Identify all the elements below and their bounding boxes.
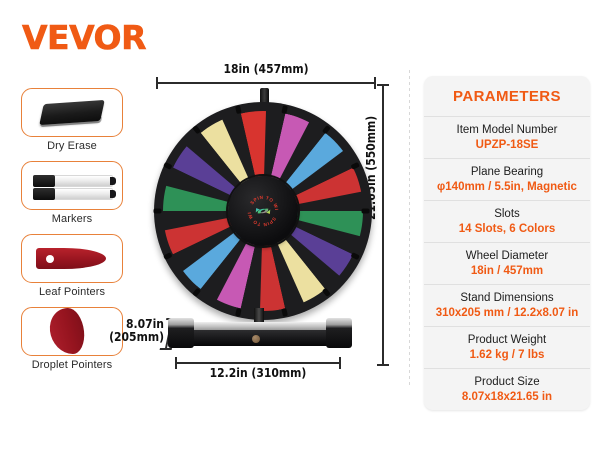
stand-foot-left [168,318,194,348]
wheel-peg [351,252,360,260]
parameter-value: 14 Slots, 6 Colors [430,222,584,236]
parameter-row: Plane Bearingφ140mm / 5.5in, Magnetic [424,158,590,200]
parameter-row: Stand Dimensions310x205 mm / 12.2x8.07 i… [424,284,590,326]
vevor-logo: VEVOR [22,18,146,57]
accessory-thumb-markers [21,161,123,210]
prize-wheel: SPIN TO WIN SPIN TO WIN [154,102,372,320]
accessory-item-markers: Markers [18,161,126,225]
marker-cap-icon [33,175,55,187]
parameter-value: 1.62 kg / 7 lbs [430,348,584,362]
dimension-line-width-bottom [175,362,341,364]
parameters-title: PARAMETERS [424,76,590,116]
dimension-line-height-right [382,84,384,366]
marker-tip-icon [110,190,116,198]
parameter-label: Product Weight [430,333,584,347]
svg-text:SPIN TO WIN: SPIN TO WIN [244,194,279,211]
parameter-row: Product Weight1.62 kg / 7 lbs [424,326,590,368]
wheel-peg [281,105,288,114]
accessory-thumb-leaf-pointers [21,234,123,283]
accessory-item-dry-erase: Dry Erase [18,88,126,152]
parameter-value: 310x205 mm / 12.2x8.07 in [430,306,584,320]
dimension-depth-line1: 8.07in [126,317,164,331]
wheel-peg [192,125,201,134]
accessory-label-droplet-pointers: Droplet Pointers [18,359,126,371]
product-diagram: 18in (457mm) 21.65in (550mm) [132,60,400,390]
parameters-panel: PARAMETERS Item Model NumberUPZP-18SEPla… [424,76,590,410]
wheel-hub: SPIN TO WIN SPIN TO WIN [228,176,298,246]
parameter-label: Plane Bearing [430,165,584,179]
marker-icon [33,188,113,200]
leaf-pointer-icon [36,248,106,269]
parameter-value: 8.07x18x21.65 in [430,390,584,404]
parameter-label: Stand Dimensions [430,291,584,305]
parameters-rows: Item Model NumberUPZP-18SEPlane Bearingφ… [424,116,590,410]
wheel-peg [163,162,172,170]
accessory-item-leaf-pointers: Leaf Pointers [18,234,126,298]
wheel-stand [168,312,352,358]
wheel-peg [322,288,331,297]
wheel-peg [322,125,331,134]
accessory-thumb-dry-erase [21,88,123,137]
parameter-row: Item Model NumberUPZP-18SE [424,116,590,158]
marker-icon [33,175,113,187]
parameter-row: Wheel Diameter18in / 457mm [424,242,590,284]
parameter-value: 18in / 457mm [430,264,584,278]
droplet-pointer-icon [48,308,87,354]
stand-screw-icon [252,335,260,343]
infographic-canvas: VEVOR Dry Erase Markers [0,0,600,450]
vertical-divider [409,70,410,388]
wheel-peg [154,209,162,214]
wheel-peg [362,209,370,214]
parameter-label: Slots [430,207,584,221]
dimension-label-width-top: 18in (457mm) [156,62,376,76]
parameter-label: Product Size [430,375,584,389]
accessory-label-dry-erase: Dry Erase [18,140,126,152]
wheel-frame: SPIN TO WIN SPIN TO WIN [154,102,372,320]
wheel-peg [235,105,242,114]
parameter-value: φ140mm / 5.5in, Magnetic [430,180,584,194]
wheel-peg [192,288,201,297]
parameter-value: UPZP-18SE [430,138,584,152]
wheel-peg [163,252,172,260]
dimension-line-width-top [156,82,376,84]
accessory-label-leaf-pointers: Leaf Pointers [18,286,126,298]
dimension-depth-line2: (205mm) [109,330,164,344]
parameter-label: Wheel Diameter [430,249,584,263]
spin-to-win-hub-logo-icon: SPIN TO WIN SPIN TO WIN [240,194,286,228]
parameter-row: Slots14 Slots, 6 Colors [424,200,590,242]
accessory-label-markers: Markers [18,213,126,225]
dimension-label-depth: 8.07in (205mm) [88,318,164,344]
parameter-row: Product Size8.07x18x21.65 in [424,368,590,410]
leaf-pointer-hole-icon [46,255,54,263]
stand-base [176,330,344,346]
stand-foot-right [326,318,352,348]
marker-cap-icon [33,188,55,200]
wheel-peg [351,162,360,170]
dimension-label-width-bottom: 12.2in (310mm) [175,366,341,380]
parameter-label: Item Model Number [430,123,584,137]
marker-tip-icon [110,177,116,185]
